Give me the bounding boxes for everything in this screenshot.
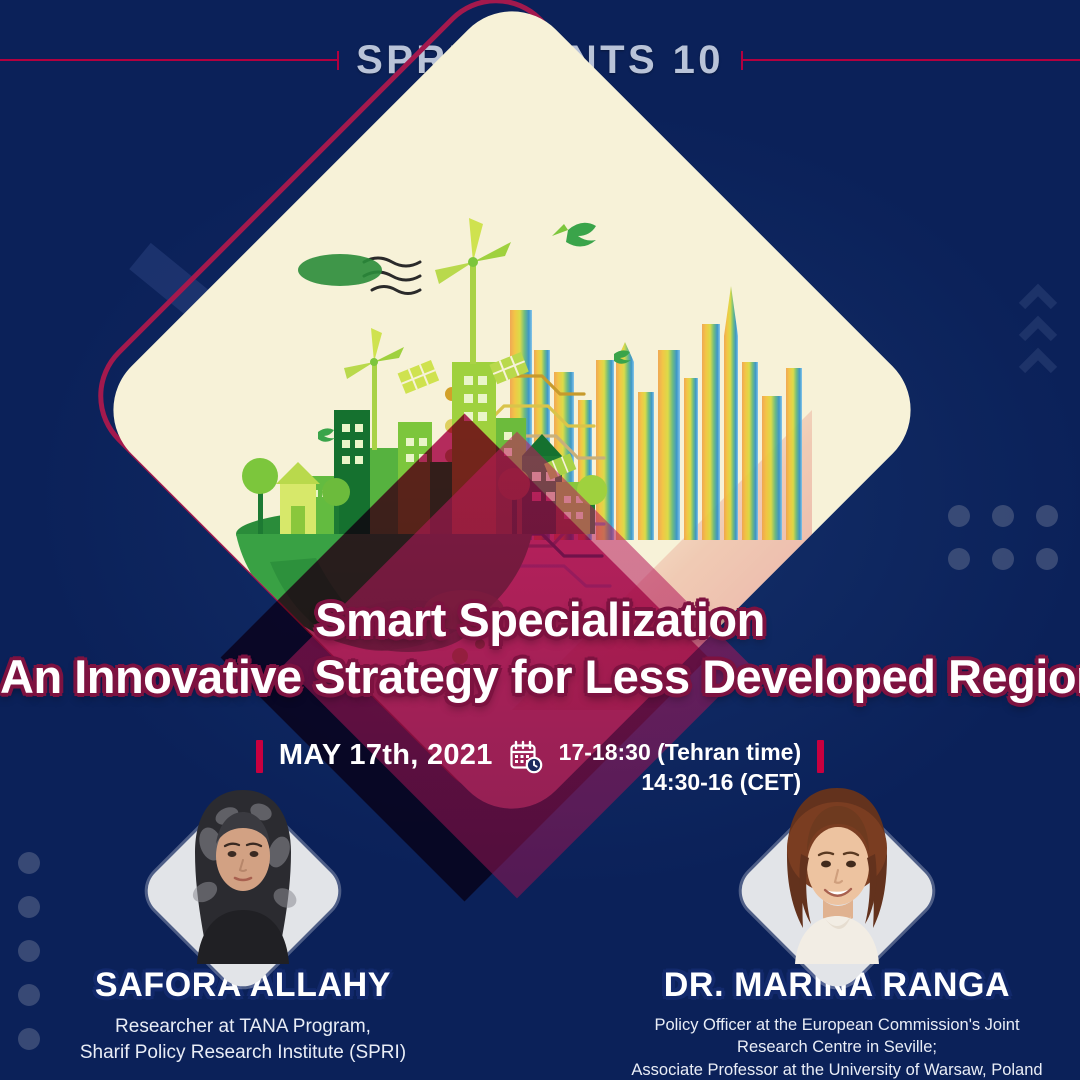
avatar xyxy=(761,782,913,964)
speaker-photo-zone xyxy=(627,782,1047,964)
datetime-bar-right xyxy=(817,740,824,773)
event-title-line-1: Smart Specialization xyxy=(0,596,1080,645)
speaker-card-1: SAFORA ALLAHY Researcher at TANA Program… xyxy=(33,782,453,1080)
event-date: MAY 17th, 2021 xyxy=(279,739,493,772)
event-time-tehran: 17-18:30 (Tehran time) xyxy=(559,738,801,768)
decor-dot xyxy=(1036,505,1058,527)
event-title: Smart Specialization An Innovative Strat… xyxy=(0,596,1080,702)
speaker-role-line-2: Associate Professor at the University of… xyxy=(627,1059,1047,1080)
speaker-role-line-2: Sharif Policy Research Institute (SPRI) xyxy=(33,1040,453,1066)
calendar-clock-icon xyxy=(509,740,543,779)
decor-dot xyxy=(948,505,970,527)
speaker-photo-zone xyxy=(33,782,453,964)
decor-dot xyxy=(1036,548,1058,570)
speaker-role-line-1: Policy Officer at the European Commissio… xyxy=(627,1014,1047,1059)
header-rule-right xyxy=(743,59,1080,61)
dot-grid-decor-right xyxy=(948,505,1058,570)
speaker-role: Policy Officer at the European Commissio… xyxy=(627,1014,1047,1080)
avatar xyxy=(167,782,319,964)
speaker-role-line-1: Researcher at TANA Program, xyxy=(33,1014,453,1040)
decor-dot xyxy=(948,548,970,570)
speakers-row: SAFORA ALLAHY Researcher at TANA Program… xyxy=(0,782,1080,1080)
decor-dot xyxy=(992,548,1014,570)
speaker-card-2: DR. MARINA RANGA Policy Officer at the E… xyxy=(627,782,1047,1080)
chevron-up-stack-decor-icon xyxy=(1010,278,1066,378)
datetime-bar-left xyxy=(256,740,263,773)
decor-dot xyxy=(992,505,1014,527)
event-poster: SPRI EVENTS 10 xyxy=(0,0,1080,1080)
header-rule-left xyxy=(0,59,337,61)
speaker-role: Researcher at TANA Program, Sharif Polic… xyxy=(33,1014,453,1065)
event-title-line-2: An Innovative Strategy for Less Develope… xyxy=(0,653,1080,702)
